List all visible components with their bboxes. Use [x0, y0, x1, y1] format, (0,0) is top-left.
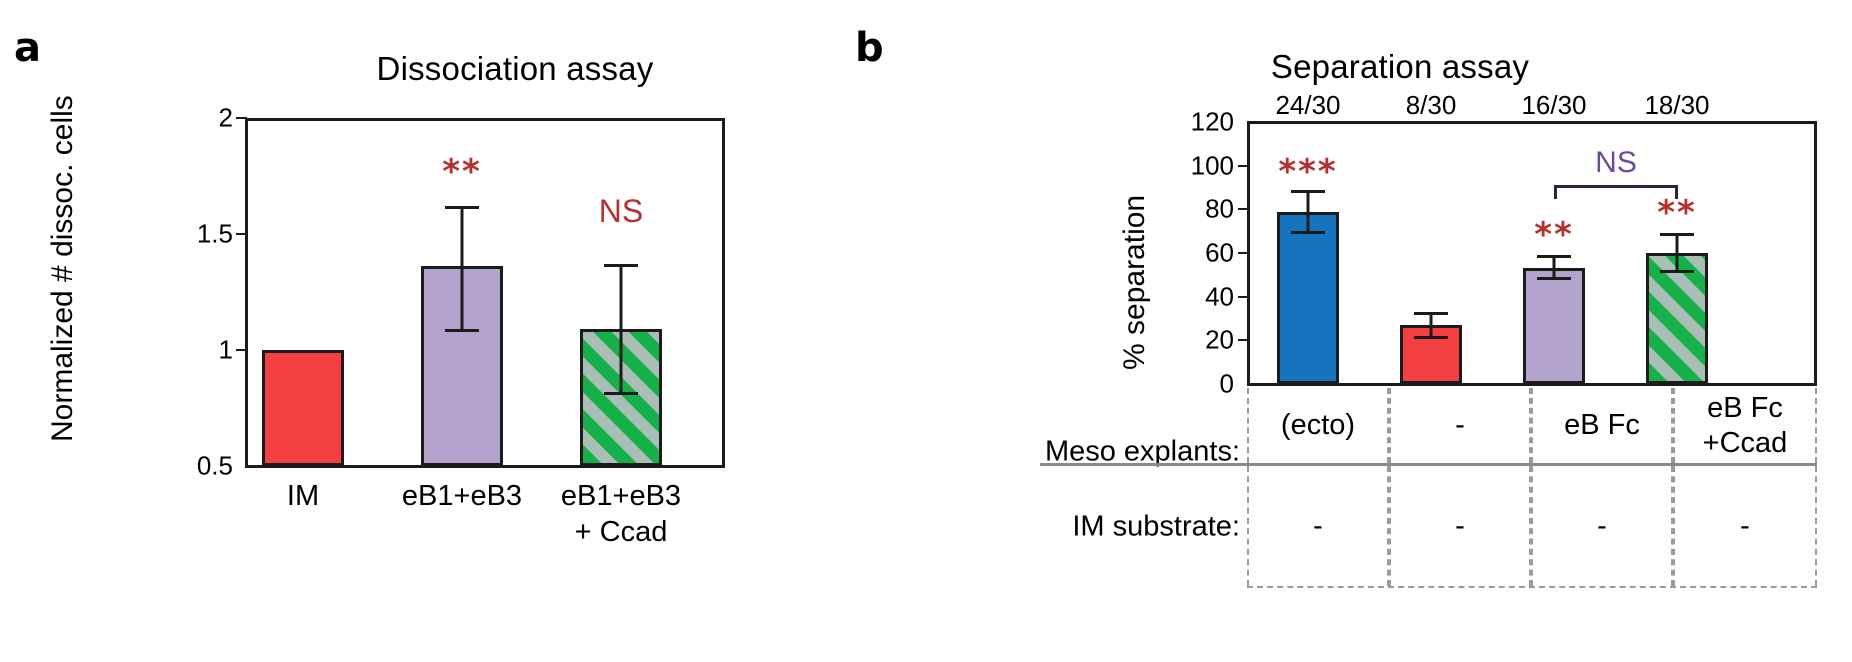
panel-a-ytick-1p5: 1.5	[175, 219, 233, 250]
panel-b-tickmark-100	[1238, 165, 1249, 167]
errorbar-panel-b-eb-fc-ccad	[1646, 233, 1708, 273]
cond-table-bottom-border	[1247, 586, 1817, 588]
errorbar-panel-b-eb-fc	[1523, 255, 1585, 280]
cond-cell-meso-2: -	[1389, 388, 1531, 463]
sig-panel-a-eb1-eb3: **	[442, 155, 482, 189]
sig-panel-b-eb-fc: **	[1534, 218, 1574, 252]
cond-row-label-im-substrate: IM substrate:	[880, 511, 1240, 544]
panel-b-right-border	[1814, 121, 1817, 386]
panel-b-tickmark-80	[1238, 208, 1249, 210]
count-label-2: 8/30	[1361, 90, 1501, 121]
count-label-4: 18/30	[1607, 90, 1747, 121]
cond-cell-im-1: -	[1247, 466, 1389, 586]
panel-a-ytick-1: 1	[175, 335, 233, 366]
panel-b-tickmark-40	[1238, 296, 1249, 298]
sig-panel-b-eb-fc-ccad: **	[1657, 196, 1697, 230]
cond-cell-meso-3: eB Fc	[1531, 388, 1673, 463]
panel-b-title: Separation assay	[1180, 48, 1620, 86]
sig-panel-a-eb1-eb3-ccad: NS	[599, 195, 643, 227]
panel-a-top-border	[245, 118, 725, 121]
panel-b-y-axis-label: % separation	[1118, 195, 1152, 370]
panel-a-tickmark-1p5	[236, 233, 247, 235]
cond-cell-im-2: -	[1389, 466, 1531, 586]
panel-b-ytick-120: 120	[1158, 107, 1234, 138]
panel-b-ytick-80: 80	[1158, 194, 1234, 225]
xcat-panel-a-eb1-eb3-ccad: eB1+eB3 + Ccad	[506, 478, 736, 551]
panel-a-ytick-2: 2	[175, 103, 233, 134]
ns-bracket-panel-b	[1554, 185, 1678, 199]
panel-letter-a: a	[14, 28, 41, 68]
panel-b-ytick-60: 60	[1158, 238, 1234, 269]
panel-b-tickmark-20	[1238, 339, 1249, 341]
panel-letter-b: b	[855, 28, 884, 68]
panel-a-ytick-0p5: 0.5	[171, 451, 233, 482]
panel-a-tickmark-2	[236, 117, 247, 119]
panel-b-ytick-40: 40	[1158, 282, 1234, 313]
ns-bracket-label: NS	[1595, 148, 1637, 178]
cond-cell-meso-1: (ecto)	[1247, 388, 1389, 463]
panel-a-y-axis	[245, 118, 248, 468]
sig-panel-b-ecto: ***	[1278, 155, 1337, 189]
panel-b-ytick-0: 0	[1158, 369, 1234, 400]
bar-panel-a-im	[262, 350, 344, 466]
cond-cell-im-4: -	[1673, 466, 1817, 586]
bar-panel-b-eb-fc	[1523, 268, 1585, 384]
panel-a-y-axis-label: Normalized # dissoc. cells	[46, 95, 80, 442]
bar-panel-b-ecto	[1277, 212, 1339, 384]
panel-b-tickmark-60	[1238, 252, 1249, 254]
panel-a-right-border	[722, 118, 725, 468]
errorbar-panel-b-none	[1400, 312, 1462, 339]
cond-cell-im-3: -	[1531, 466, 1673, 586]
panel-b-ytick-20: 20	[1158, 325, 1234, 356]
errorbar-panel-a-eb1-eb3	[421, 206, 503, 332]
panel-b-top-border	[1247, 121, 1817, 124]
errorbar-panel-b-ecto	[1277, 190, 1339, 234]
count-label-1: 24/30	[1238, 90, 1378, 121]
errorbar-panel-a-eb1-eb3-ccad	[580, 264, 662, 395]
panel-a-title: Dissociation assay	[300, 50, 730, 88]
count-label-3: 16/30	[1484, 90, 1624, 121]
panel-b-ytick-100: 100	[1158, 151, 1234, 182]
cond-cell-meso-4: eB Fc +Ccad	[1673, 388, 1817, 463]
figure-canvas: a Dissociation assay Normalized # dissoc…	[0, 0, 1852, 662]
panel-a-tickmark-1	[236, 349, 247, 351]
